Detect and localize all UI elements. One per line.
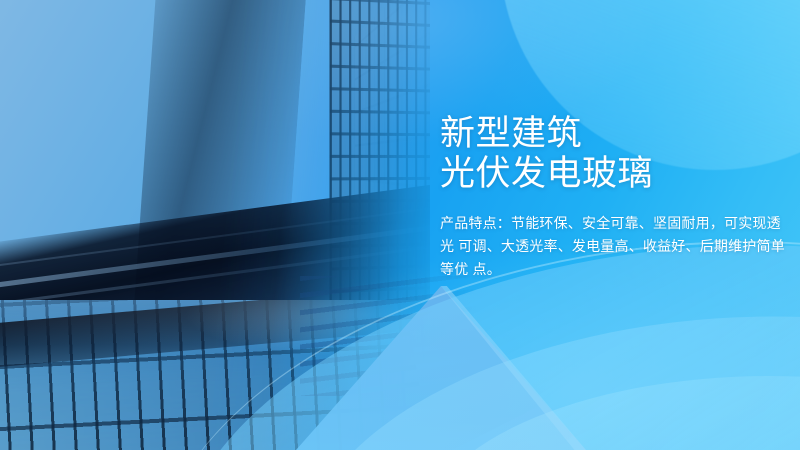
headline: 新型建筑 光伏发电玻璃 [440,114,788,194]
headline-line-2: 光伏发电玻璃 [440,154,788,194]
headline-line-1: 新型建筑 [440,114,788,154]
feature-line-3: 点。 [473,261,501,277]
copy-block: 新型建筑 光伏发电玻璃 产品特点：节能环保、安全可靠、坚固耐用，可实现透光 可调… [440,114,788,281]
product-features-text: 产品特点：节能环保、安全可靠、坚固耐用，可实现透光 可调、大透光率、发电量高、收… [440,212,788,281]
promo-banner: 新型建筑 光伏发电玻璃 产品特点：节能环保、安全可靠、坚固耐用，可实现透光 可调… [0,0,800,450]
